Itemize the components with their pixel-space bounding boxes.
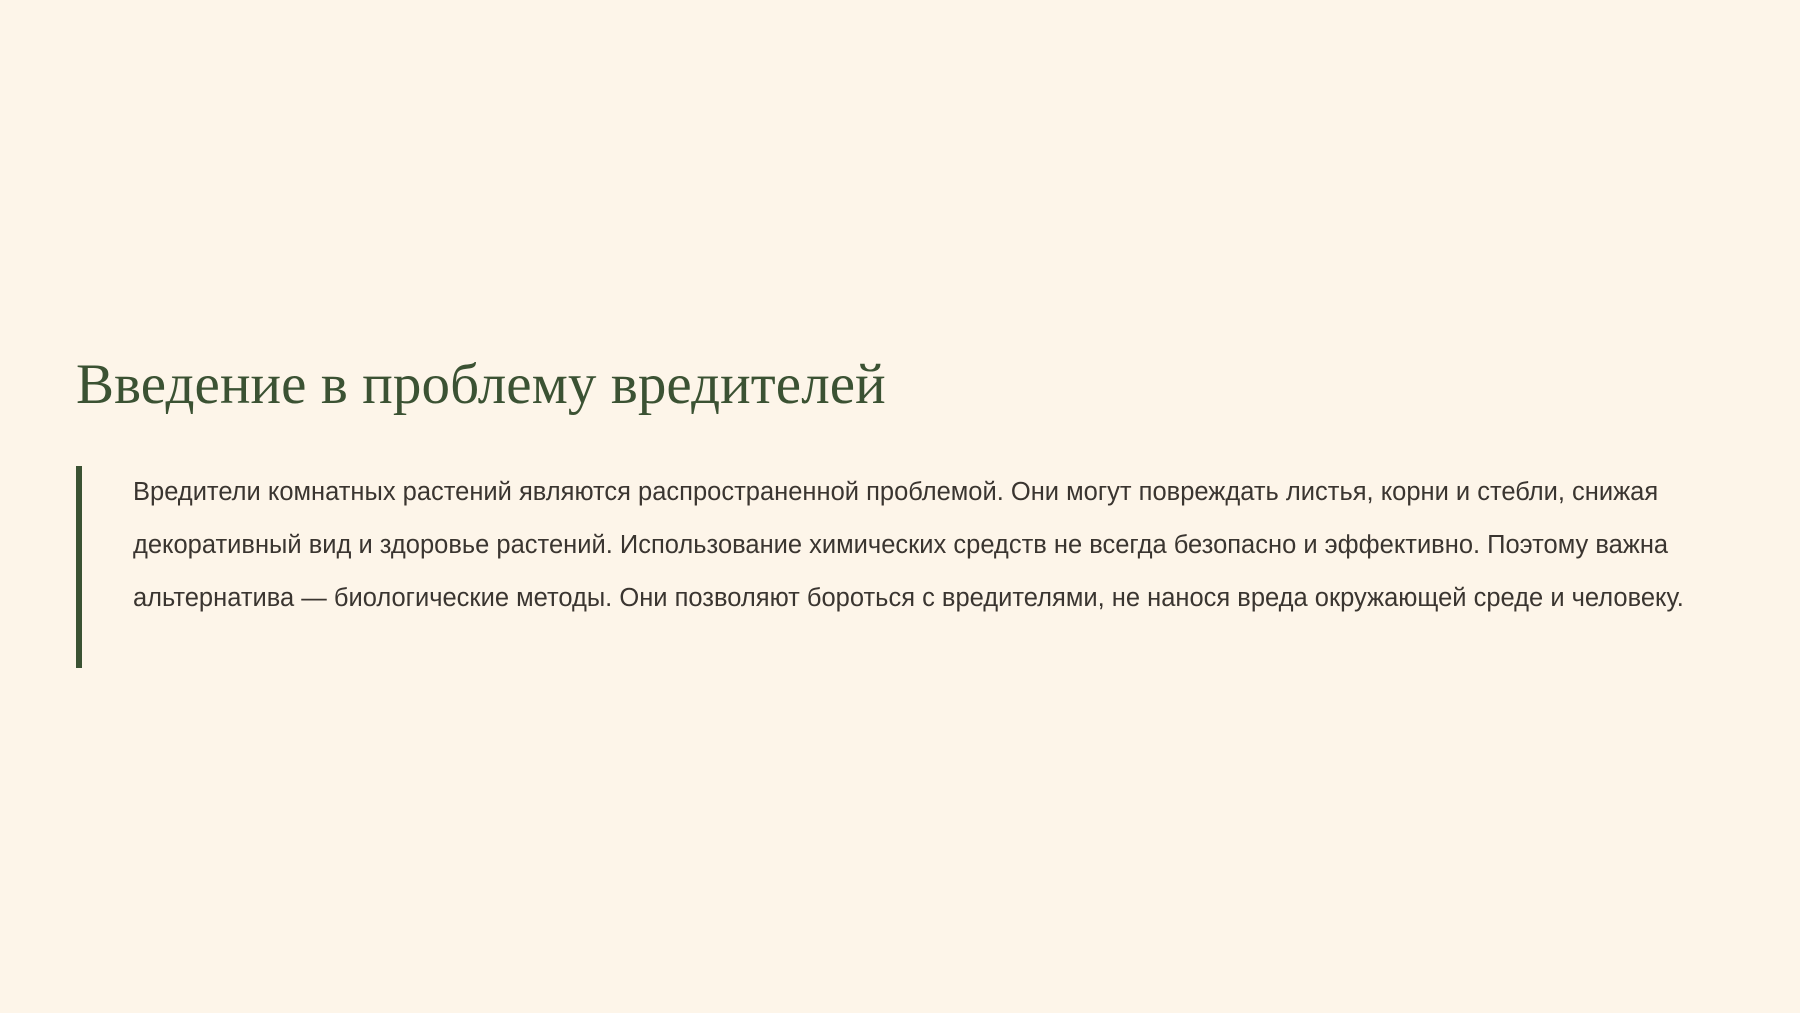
slide-canvas: Введение в проблему вредителей Вредители… (0, 0, 1800, 1013)
body-quote-block: Вредители комнатных растений являются ра… (76, 466, 1776, 668)
body-paragraph: Вредители комнатных растений являются ра… (82, 466, 1776, 668)
page-title: Введение в проблему вредителей (76, 350, 886, 420)
